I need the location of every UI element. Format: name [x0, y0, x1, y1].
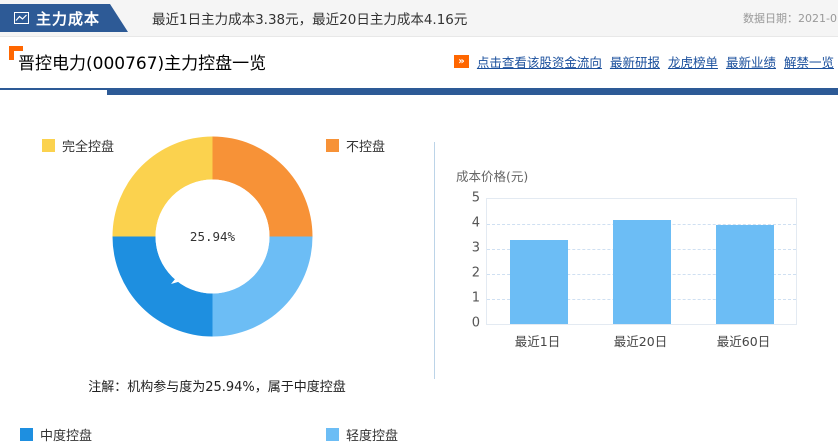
donut-note: 注解：机构参与度为25.94%，属于中度控盘 — [0, 376, 434, 395]
link-fund-flow[interactable]: 点击查看该股资金流向 — [477, 52, 602, 71]
tab-main-cost[interactable]: 主力成本 — [0, 4, 128, 32]
legend-item-no-control[interactable]: 不控盘 — [326, 136, 385, 155]
double-chevron-right-icon: » — [454, 55, 469, 68]
link-dragon-tiger[interactable]: 龙虎榜单 — [668, 52, 718, 71]
legend-swatch-no-control — [326, 139, 339, 152]
title-rule-thick — [107, 90, 838, 95]
bar-最近1日[interactable] — [510, 240, 568, 325]
bar-chart-y-axis-title: 成本价格(元) — [456, 166, 528, 185]
legend-item-full-control[interactable]: 完全控盘 — [42, 136, 114, 155]
x-axis-tick-label: 最近60日 — [694, 331, 794, 350]
link-latest-performance[interactable]: 最新业绩 — [726, 52, 776, 71]
donut-svg — [110, 134, 315, 339]
legend-swatch-light-control — [326, 428, 339, 441]
legend-label-medium-control: 中度控盘 — [40, 425, 92, 444]
bar-最近20日[interactable] — [613, 220, 671, 324]
legend-swatch-medium-control — [20, 428, 33, 441]
legend-item-medium-control[interactable]: 中度控盘 — [20, 425, 92, 444]
legend-label-no-control: 不控盘 — [346, 136, 385, 155]
legend-swatch-full-control — [42, 139, 55, 152]
chart-box-icon — [14, 12, 29, 24]
legend-label-light-control: 轻度控盘 — [346, 425, 398, 444]
tab-label: 主力成本 — [36, 8, 100, 29]
y-axis-tick-label: 5 — [440, 191, 480, 206]
legend-item-light-control[interactable]: 轻度控盘 — [326, 425, 398, 444]
cost-price-bar-panel: 成本价格(元) 东方财富网 eastmoney.com 543210最近1日最近… — [434, 96, 838, 444]
control-share-donut-panel: 25.94% 完全控盘 不控盘 中度控盘 轻度控盘 注解：机构参与度为25.94… — [0, 96, 434, 444]
center-callout-bubble — [156, 180, 270, 294]
legend-label-full-control: 完全控盘 — [62, 136, 114, 155]
page-title: 晋控电力(000767)主力控盘一览 — [18, 49, 266, 74]
y-axis-tick-label: 2 — [440, 266, 480, 281]
y-axis-tick-label: 3 — [440, 241, 480, 256]
donut-chart: 25.94% — [110, 134, 315, 339]
bar-chart-plot-area — [486, 198, 797, 325]
title-row: 晋控电力(000767)主力控盘一览 » 点击查看该股资金流向 最新研报 龙虎榜… — [0, 36, 838, 88]
content-area: 25.94% 完全控盘 不控盘 中度控盘 轻度控盘 注解：机构参与度为25.94… — [0, 96, 838, 444]
y-axis-tick-label: 4 — [440, 216, 480, 231]
x-axis-tick-label: 最近20日 — [591, 331, 691, 350]
link-latest-research[interactable]: 最新研报 — [610, 52, 660, 71]
top-bar: 主力成本 最近1日主力成本3.38元，最近20日主力成本4.16元 数据日期：2… — [0, 0, 838, 37]
y-axis-tick-label: 0 — [440, 316, 480, 331]
cost-summary-text: 最近1日主力成本3.38元，最近20日主力成本4.16元 — [152, 0, 467, 36]
y-axis-tick-label: 1 — [440, 291, 480, 306]
quick-links: » 点击查看该股资金流向 最新研报 龙虎榜单 最新业绩 解禁一览 — [454, 52, 834, 71]
x-axis-tick-label: 最近1日 — [488, 331, 588, 350]
data-date-label: 数据日期：2021-01 — [743, 0, 838, 36]
bar-最近60日[interactable] — [716, 225, 774, 324]
link-unlock-list[interactable]: 解禁一览 — [784, 52, 834, 71]
